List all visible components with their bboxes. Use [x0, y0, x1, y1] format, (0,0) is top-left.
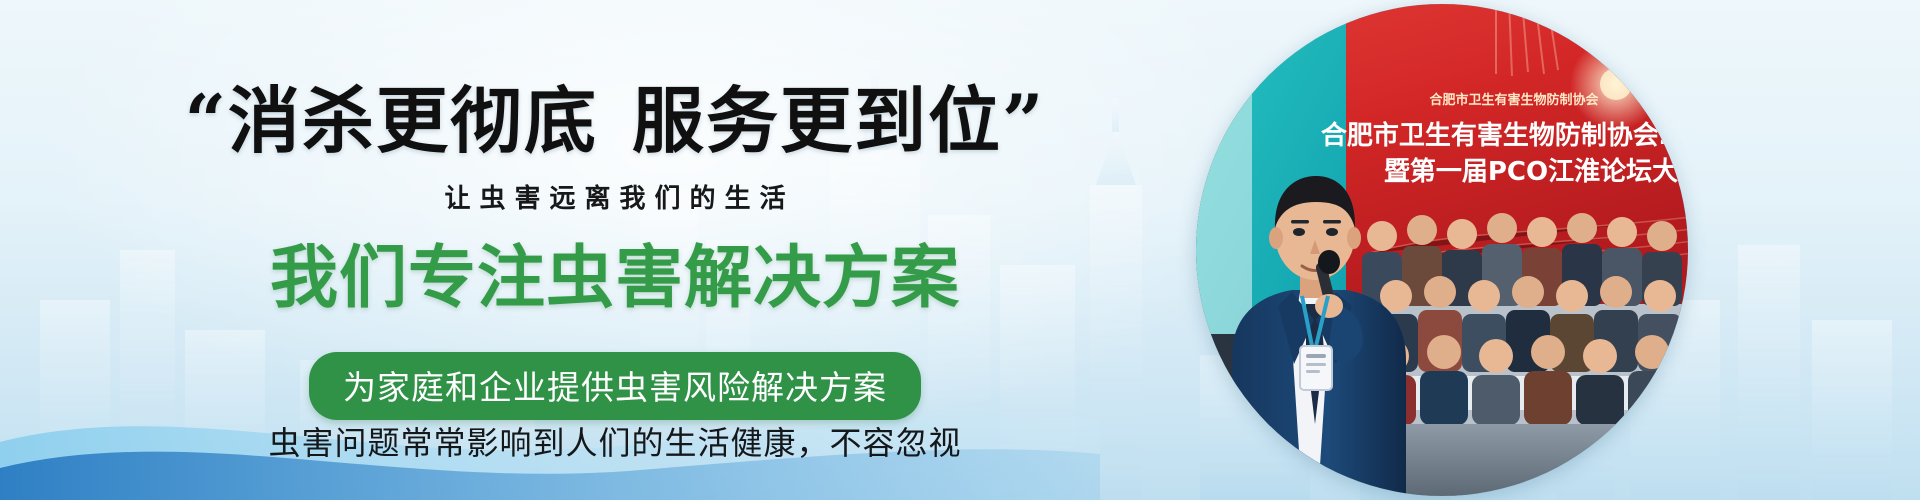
main-headline: “消杀更彻底服务更到位”	[0, 62, 1230, 167]
banner-association-text: 合肥市卫生有害生物防制协会	[1429, 92, 1599, 108]
pill-badge-wrapper: 为家庭和企业提供虫害风险解决方案	[0, 352, 1230, 420]
headline-part-2: 服务更到位	[632, 79, 1002, 163]
text-content-block: “消杀更彻底服务更到位” 让虫害远离我们的生活 我们专注虫害解决方案 为家庭和企…	[0, 0, 1230, 500]
conference-photo-circle: 合肥市卫生有害生物防制协会 合肥市卫生有害生物防制协会2023 暨第一届PCO江…	[1196, 4, 1688, 496]
promo-banner: “消杀更彻底服务更到位” 让虫害远离我们的生活 我们专注虫害解决方案 为家庭和企…	[0, 0, 1920, 500]
banner-title-line-1: 合肥市卫生有害生物防制协会2023	[1321, 120, 1688, 151]
headline-part-1: 消杀更彻底	[228, 79, 598, 163]
banner-title-line-2: 暨第一届PCO江淮论坛大会	[1384, 156, 1688, 187]
headline-open-quote: “	[185, 78, 228, 163]
conference-photo: 合肥市卫生有害生物防制协会 合肥市卫生有害生物防制协会2023 暨第一届PCO江…	[1196, 4, 1688, 496]
sub-headline: 让虫害远离我们的生活	[0, 178, 1230, 215]
service-pill-badge[interactable]: 为家庭和企业提供虫害风险解决方案	[309, 352, 921, 420]
footer-tagline: 虫害问题常常影响到人们的生活健康，不容忽视	[0, 418, 1230, 464]
green-headline: 我们专注虫害解决方案	[0, 222, 1230, 321]
headline-close-quote: ”	[1002, 78, 1045, 163]
